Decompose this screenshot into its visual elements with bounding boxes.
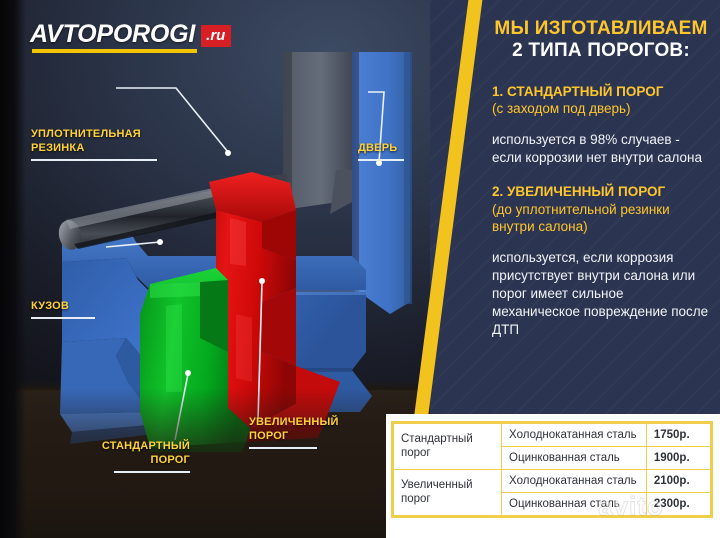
price-material: Оцинкованная сталь: [502, 447, 647, 470]
price-category-standard: Стандартный порог: [394, 424, 502, 470]
promo-banner: УПЛОТНИТЕЛЬНАЯ РЕЗИНКА КУЗОВ ДВЕРЬ СТАНД…: [0, 0, 720, 538]
callout-underline: [249, 447, 317, 449]
logo-wordmark: AVTOPOROGI: [30, 20, 195, 48]
callout-rubber-seal-line1: УПЛОТНИТЕЛЬНАЯ: [31, 128, 141, 140]
callout-enlarged-sill: УВЕЛИЧЕННЫЙ ПОРОГ: [249, 416, 369, 449]
callout-enlarged-sill-line2: ПОРОГ: [249, 430, 288, 442]
table-row: Стандартный порог Холоднокатанная сталь …: [394, 424, 711, 447]
callout-underline: [114, 471, 190, 473]
callout-standard-sill: СТАНДАРТНЫЙ ПОРОГ: [60, 440, 190, 473]
price-category-enlarged: Увеличенный порог: [394, 470, 502, 516]
logo-underline: [32, 49, 197, 53]
logo-wordmark-wrap: AVTOPOROGI: [30, 22, 195, 47]
callout-standard-sill-line2: ПОРОГ: [151, 454, 190, 466]
callout-enlarged-sill-line1: УВЕЛИЧЕННЫЙ: [249, 416, 339, 428]
info-block-standard-subtitle: (с заходом под дверь): [492, 100, 710, 118]
price-value: 1750р.: [646, 424, 710, 447]
panel-heading-line2: 2 ТИПА ПОРОГОВ:: [492, 40, 710, 62]
price-value: 1900р.: [646, 447, 710, 470]
logo-domain-badge: .ru: [201, 25, 231, 47]
callout-door-label: ДВЕРЬ: [358, 142, 397, 154]
info-block-standard-title: 1. СТАНДАРТНЫЙ ПОРОГ: [492, 83, 710, 101]
price-material: Оцинкованная сталь: [502, 493, 647, 516]
info-block-enlarged-title: 2. УВЕЛИЧЕННЫЙ ПОРОГ: [492, 183, 710, 201]
price-table-wrapper: Стандартный порог Холоднокатанная сталь …: [391, 421, 713, 518]
callout-rubber-seal: УПЛОТНИТЕЛЬНАЯ РЕЗИНКА: [31, 128, 161, 161]
bottom-white-strip: [386, 528, 720, 538]
callout-rubber-seal-line2: РЕЗИНКА: [31, 142, 84, 154]
callout-door: ДВЕРЬ: [358, 142, 406, 161]
price-table: Стандартный порог Холоднокатанная сталь …: [393, 423, 711, 516]
callout-car-body-label: КУЗОВ: [31, 300, 69, 312]
price-material: Холоднокатанная сталь: [502, 470, 647, 493]
callout-underline: [31, 159, 157, 161]
price-value: 2100р.: [646, 470, 710, 493]
callout-standard-sill-line1: СТАНДАРТНЫЙ: [102, 440, 190, 452]
table-row: Увеличенный порог Холоднокатанная сталь …: [394, 470, 711, 493]
price-value: 2300р.: [646, 493, 710, 516]
info-block-enlarged-subtitle: (до уплотнительной резинки внутри салона…: [492, 201, 710, 237]
info-block-enlarged: 2. УВЕЛИЧЕННЫЙ ПОРОГ (до уплотнительной …: [492, 183, 710, 339]
info-block-standard: 1. СТАНДАРТНЫЙ ПОРОГ (с заходом под двер…: [492, 83, 710, 167]
logo[interactable]: AVTOPOROGI .ru: [30, 22, 231, 47]
info-block-enlarged-body: используется, если коррозия присутствует…: [492, 249, 710, 339]
callout-underline: [31, 317, 95, 319]
price-material: Холоднокатанная сталь: [502, 424, 647, 447]
panel-heading: МЫ ИЗГОТАВЛИВАЕМ 2 ТИПА ПОРОГОВ:: [492, 18, 710, 63]
panel-heading-line1: МЫ ИЗГОТАВЛИВАЕМ: [492, 18, 710, 40]
info-panel-content: МЫ ИЗГОТАВЛИВАЕМ 2 ТИПА ПОРОГОВ: 1. СТАН…: [430, 0, 720, 339]
callout-car-body: КУЗОВ: [31, 300, 97, 319]
sill-cross-section-illustration: [0, 52, 470, 452]
callout-underline: [358, 159, 404, 161]
info-block-standard-body: используется в 98% случаев - если корроз…: [492, 131, 710, 167]
